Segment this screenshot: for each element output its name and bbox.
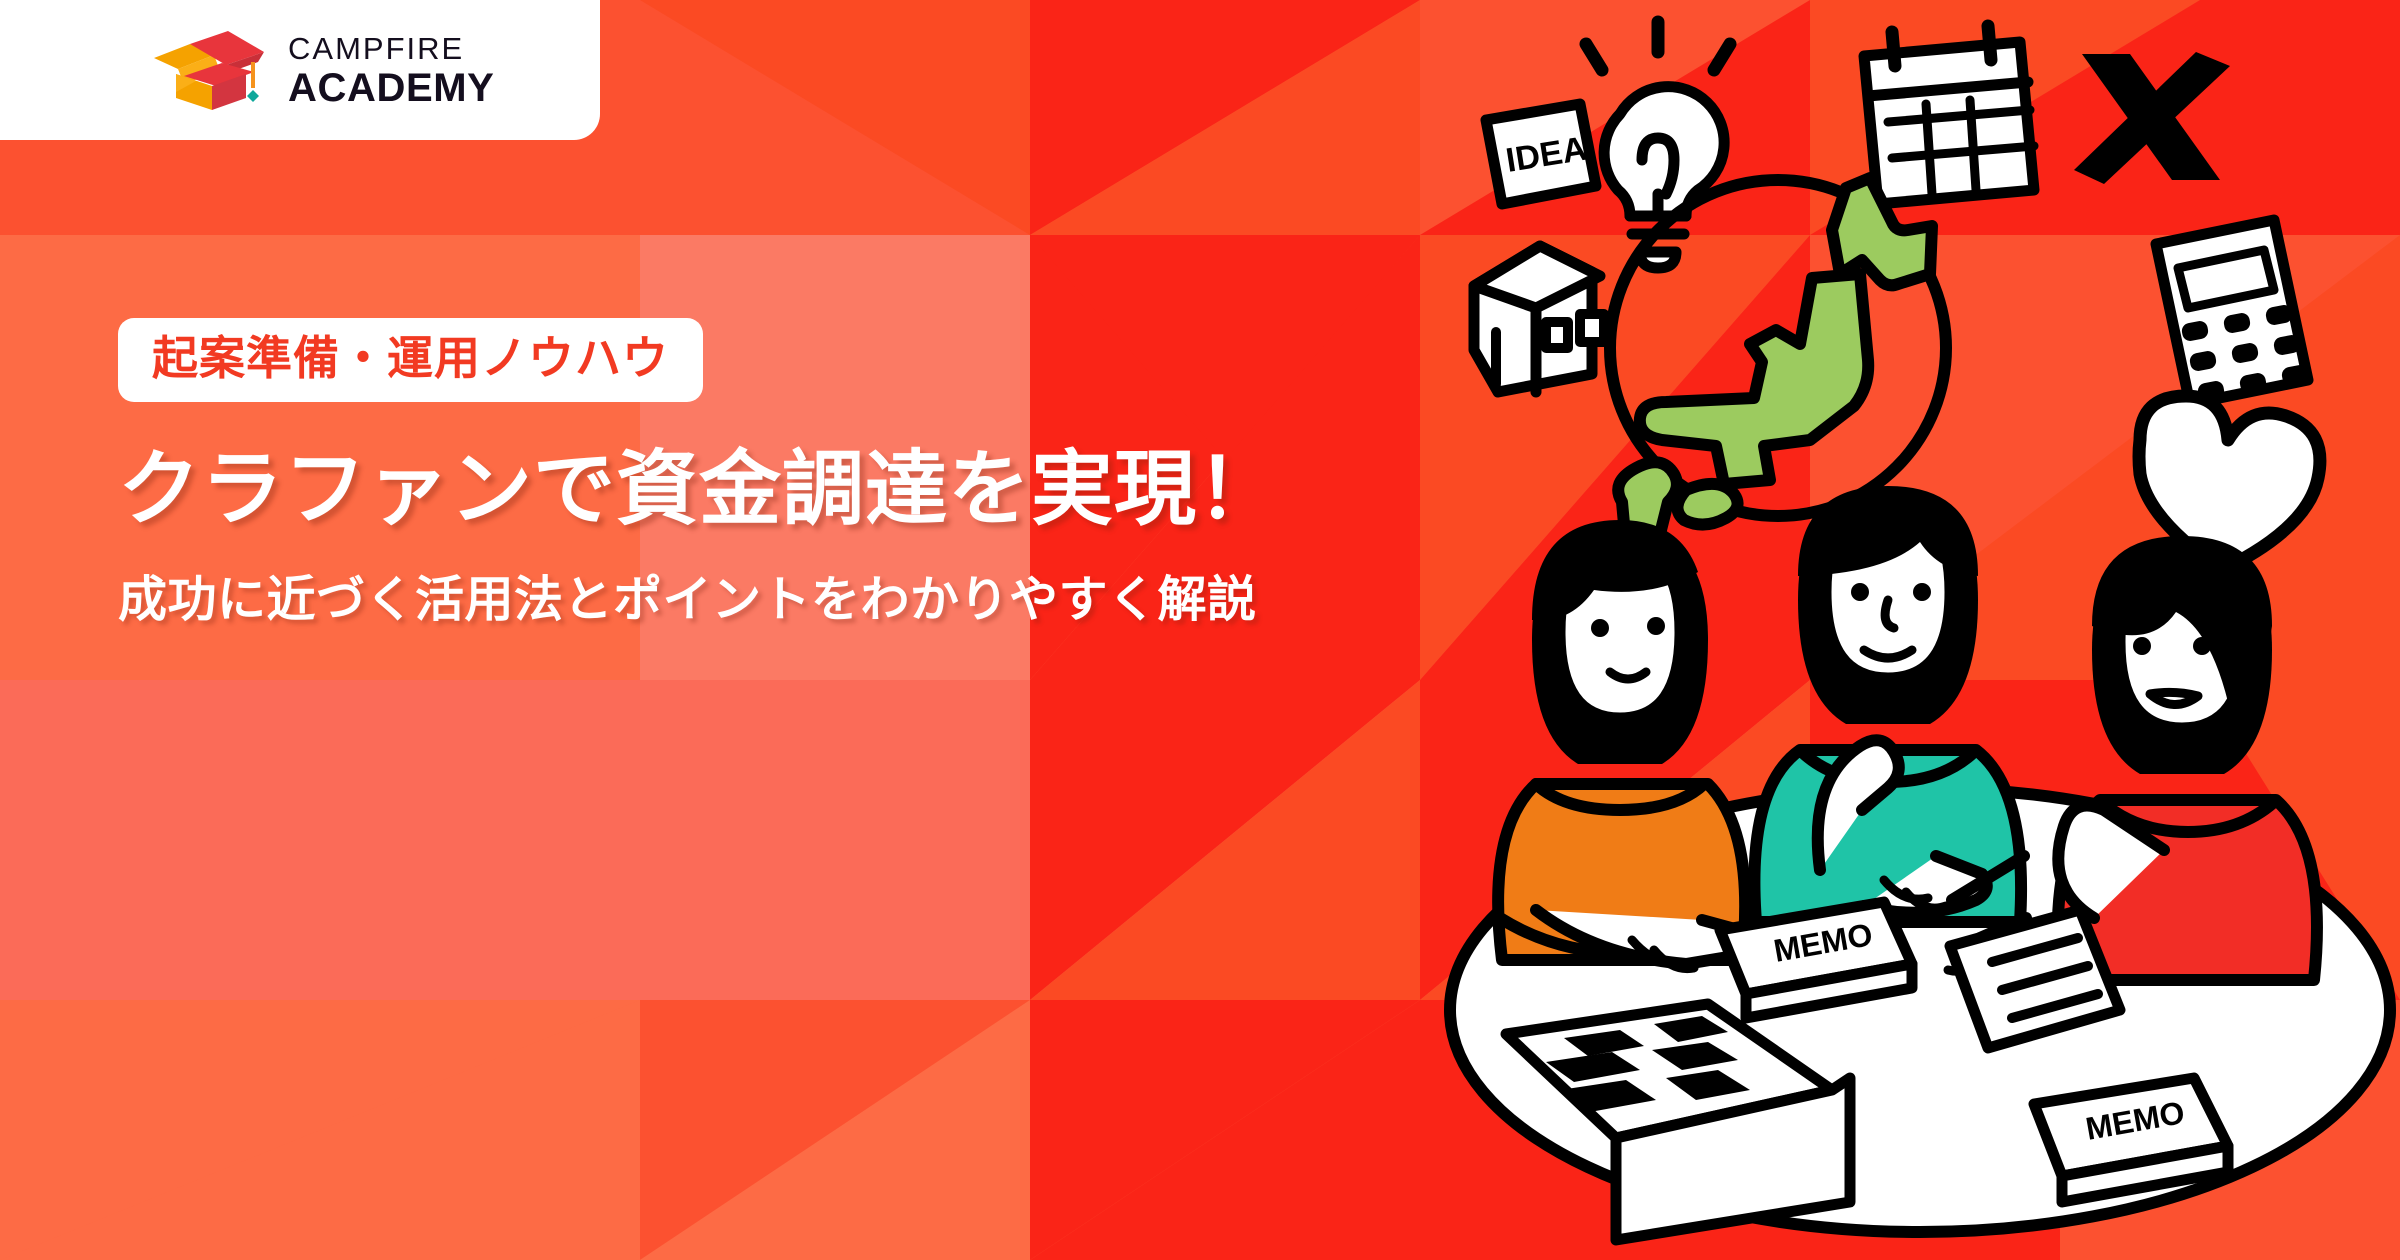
brand-line-2: ACADEMY [288,68,494,108]
page-subtitle: 成功に近づく活用法とポイントをわかりやすく解説 [118,566,1428,635]
graduation-cap-icon [150,24,270,116]
brand-wordmark: CAMPFIRE ACADEMY [288,33,494,108]
category-badge: 起案準備・運用ノウハウ [118,318,703,402]
brand-logo-plate[interactable]: CAMPFIRE ACADEMY [0,0,600,140]
brand-line-1: CAMPFIRE [288,33,494,64]
category-badge-label: 起案準備・運用ノウハウ [152,335,669,381]
hero-banner: CAMPFIRE ACADEMY 起案準備・運用ノウハウ クラファンで資金調達を… [0,0,2400,1260]
hero-copy: 起案準備・運用ノウハウ クラファンで資金調達を実現！ 成功に近づく活用法とポイン… [118,318,1448,635]
page-title: クラファンで資金調達を実現！ [118,436,1298,544]
